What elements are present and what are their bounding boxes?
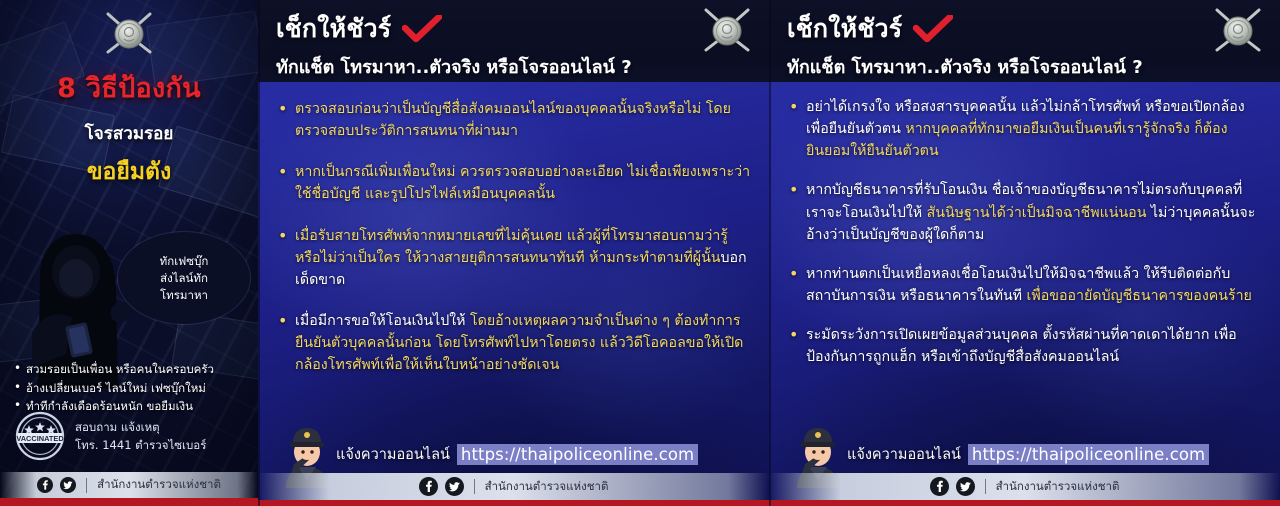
facebook-icon[interactable] — [37, 477, 53, 493]
left-panel-subtitle-2: ขอยืมตัง — [0, 154, 258, 190]
thai-police-emblem-icon — [1210, 5, 1266, 57]
twitter-icon[interactable] — [445, 477, 464, 496]
list-item: ระมัดระวังการเปิดเผยข้อมูลส่วนบุคคล ตั้ง… — [789, 324, 1262, 368]
list-item: หากเป็นกรณีเพิ่มเพื่อนใหม่ ควรตรวจสอบอย่… — [278, 161, 751, 205]
bubble-line: ส่งไลน์ทัก — [160, 272, 208, 284]
vaccinated-badge-label: VACCINATED — [16, 434, 64, 443]
credit-divider — [985, 479, 986, 494]
left-panel-subtitle-1: โจรสวมรอย — [0, 120, 258, 147]
contact-line-1: สอบถาม แจ้งเหตุ — [75, 420, 206, 434]
infographic-board: 8 วิธีป้องกัน โจรสวมรอย ขอยืมตัง ทักเฟซบ… — [0, 0, 1280, 506]
text-run: เมื่อมีการขอให้โอนเงินไปให้ — [295, 313, 470, 329]
list-item: อย่าได้เกรงใจ หรือสงสารบุคคลนั้น แล้วไม่… — [789, 96, 1262, 162]
bubble-line: โทรมาหา — [160, 289, 208, 301]
page-title: เช็กให้ชัวร์ — [787, 9, 902, 49]
left-panel-contact-block: VACCINATED สอบถาม แจ้งเหตุ โทร. 1441 ตำร… — [14, 410, 206, 462]
content-panel-1: เช็กให้ชัวร์ ทักแช็ต โทรมาหา..ตัวจริง หร… — [258, 0, 769, 506]
report-label: แจ้งความออนไลน์ — [336, 443, 450, 466]
list-item: เมื่อรับสายโทรศัพท์จากหมายเลขที่ไม่คุ้นเ… — [278, 225, 751, 291]
list-item: อ้างเปลี่ยนเบอร์ ไลน์ใหม่ เฟซบุ๊กใหม่ — [12, 379, 258, 398]
thai-police-emblem-icon — [699, 5, 755, 57]
text-run: ตรวจสอบก่อนว่าเป็นบัญชีสื่อสังคมออนไลน์ข… — [295, 101, 731, 139]
scammer-speech-bubble: ทักเฟซบุ๊ก ส่งไลน์ทัก โทรมาหา — [118, 232, 250, 324]
content-panel-2: เช็กให้ชัวร์ ทักแช็ต โทรมาหา..ตัวจริง หร… — [769, 0, 1280, 506]
report-online-row: แจ้งความออนไลน์ https://thaipoliceonline… — [336, 443, 698, 466]
panel-footer: แจ้งความออนไลน์ https://thaipoliceonline… — [769, 418, 1280, 506]
report-url-link[interactable]: https://thaipoliceonline.com — [457, 444, 698, 465]
credit-label: สำนักงานตำรวจแห่งชาติ — [996, 478, 1120, 496]
text-run: หากเป็นกรณีเพิ่มเพื่อนใหม่ ควรตรวจสอบอย่… — [295, 164, 750, 202]
report-url-link[interactable]: https://thaipoliceonline.com — [968, 444, 1209, 465]
credit-label: สำนักงานตำรวจแห่งชาติ — [485, 478, 609, 496]
report-label: แจ้งความออนไลน์ — [847, 443, 961, 466]
credit-label: สำนักงานตำรวจแห่งชาติ — [97, 476, 221, 494]
panel-credit-strip: สำนักงานตำรวจแห่งชาติ — [769, 473, 1280, 500]
page-subtitle: ทักแช็ต โทรมาหา..ตัวจริง หรือโจรออนไลน์ … — [276, 52, 753, 81]
bottom-red-bar — [769, 500, 1280, 506]
list-item: สวมรอยเป็นเพื่อน หรือคนในครอบครัว — [12, 360, 258, 379]
credit-divider — [86, 478, 87, 493]
panel-footer: แจ้งความออนไลน์ https://thaipoliceonline… — [258, 418, 769, 506]
credit-divider — [474, 479, 475, 494]
panel-credit-strip: สำนักงานตำรวจแห่งชาติ — [258, 473, 769, 500]
panel-divider — [769, 0, 771, 506]
red-check-icon — [913, 15, 953, 43]
contact-line-2: โทร. 1441 ตำรวจไซเบอร์ — [75, 438, 206, 452]
twitter-icon[interactable] — [956, 477, 975, 496]
left-panel-bullet-list: สวมรอยเป็นเพื่อน หรือคนในครอบครัว อ้างเป… — [12, 360, 258, 416]
list-item: ตรวจสอบก่อนว่าเป็นบัญชีสื่อสังคมออนไลน์ข… — [278, 98, 751, 142]
text-run: สันนิษฐานได้ว่าเป็นมิจฉาชีพแน่นอน — [927, 205, 1151, 221]
facebook-icon[interactable] — [930, 477, 949, 496]
panel-header: เช็กให้ชัวร์ ทักแช็ต โทรมาหา..ตัวจริง หร… — [769, 0, 1280, 82]
page-subtitle: ทักแช็ต โทรมาหา..ตัวจริง หรือโจรออนไลน์ … — [787, 52, 1264, 81]
vaccinated-badge-icon: VACCINATED — [14, 410, 66, 462]
left-credit-strip: สำนักงานตำรวจแห่งชาติ — [0, 472, 258, 498]
report-online-row: แจ้งความออนไลน์ https://thaipoliceonline… — [847, 443, 1209, 466]
left-cover-panel: 8 วิธีป้องกัน โจรสวมรอย ขอยืมตัง ทักเฟซบ… — [0, 0, 258, 506]
left-panel-title: 8 วิธีป้องกัน — [0, 66, 258, 109]
list-item: หากบัญชีธนาคารที่รับโอนเงิน ชื่อเจ้าของบ… — [789, 179, 1262, 245]
twitter-icon[interactable] — [60, 477, 76, 493]
text-run: เมื่อรับสายโทรศัพท์จากหมายเลขที่ไม่คุ้นเ… — [295, 228, 728, 266]
bottom-red-bar — [258, 500, 769, 506]
panel-divider — [258, 0, 260, 506]
page-title: เช็กให้ชัวร์ — [276, 9, 391, 49]
panel-header: เช็กให้ชัวร์ ทักแช็ต โทรมาหา..ตัวจริง หร… — [258, 0, 769, 82]
bubble-line: ทักเฟซบุ๊ก — [160, 255, 209, 267]
list-item: หากท่านตกเป็นเหยื่อหลงเชื่อโอนเงินไปให้ม… — [789, 263, 1262, 307]
panel-bullet-list: อย่าได้เกรงใจ หรือสงสารบุคคลนั้น แล้วไม่… — [769, 82, 1280, 369]
text-run: เพื่อขออายัดบัญชีธนาคารของคนร้าย — [1027, 288, 1252, 304]
list-item: เมื่อมีการขอให้โอนเงินไปให้ โดยอ้างเหตุผ… — [278, 310, 751, 376]
red-check-icon — [402, 15, 442, 43]
bottom-red-bar — [0, 498, 258, 506]
text-run: ระมัดระวังการเปิดเผยข้อมูลส่วนบุคคล ตั้ง… — [806, 327, 1237, 365]
thai-police-emblem-icon — [100, 8, 158, 60]
panel-bullet-list: ตรวจสอบก่อนว่าเป็นบัญชีสื่อสังคมออนไลน์ข… — [258, 82, 769, 377]
facebook-icon[interactable] — [419, 477, 438, 496]
